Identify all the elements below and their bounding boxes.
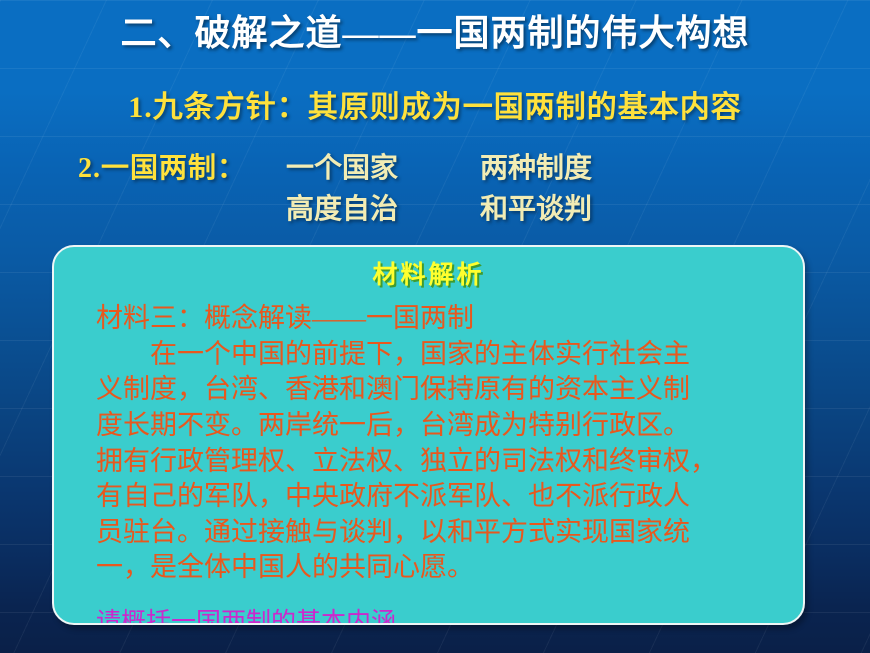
material-body-line-2: 义制度，台湾、香港和澳门保持原有的资本主义制: [96, 372, 803, 408]
material-body-line-5: 有自己的军队，中央政府不派军队、也不派行政人: [96, 479, 803, 515]
bullet-item-one-country-two-systems: 2.一国两制： 一个国家 两种制度 2.一国两制： 高度自治 和平谈判: [78, 148, 718, 231]
bullet-two-cell-2-left: 高度自治: [286, 189, 480, 230]
material-source-line: 材料三：概念解读——一国两制: [96, 301, 803, 337]
material-body-line-3: 度长期不变。两岸统一后，台湾成为特别行政区。: [96, 408, 803, 444]
material-body-line-7: 一，是全体中国人的共同心愿。: [96, 550, 803, 586]
bullet-two-cell-1-right: 两种制度: [480, 148, 592, 189]
material-card-question: 请概括一国两制的基本内涵。: [96, 602, 803, 625]
bullet-two-cell-1-left: 一个国家: [286, 148, 480, 189]
presentation-slide: 二、破解之道——一国两制的伟大构想 1.九条方针：其原则成为一国两制的基本内容 …: [0, 0, 870, 653]
material-body-line-1: 在一个中国的前提下，国家的主体实行社会主: [96, 337, 803, 373]
bullet-two-row-2: 2.一国两制： 高度自治 和平谈判: [78, 189, 718, 230]
bullet-two-cell-2-right: 和平谈判: [480, 189, 592, 230]
bullet-item-nine-principles: 1.九条方针：其原则成为一国两制的基本内容: [0, 82, 870, 126]
slide-title: 二、破解之道——一国两制的伟大构想: [0, 14, 870, 54]
material-card-heading: 材料解析: [54, 255, 803, 291]
material-analysis-card: 材料解析 材料三：概念解读——一国两制 在一个中国的前提下，国家的主体实行社会主…: [52, 245, 805, 625]
material-body-line-6: 员驻台。通过接触与谈判，以和平方式实现国家统: [96, 515, 803, 551]
bullet-two-row-1: 2.一国两制： 一个国家 两种制度: [78, 148, 718, 189]
material-card-body: 材料三：概念解读——一国两制 在一个中国的前提下，国家的主体实行社会主 义制度，…: [96, 301, 803, 586]
material-body-line-4: 拥有行政管理权、立法权、独立的司法权和终审权，: [96, 444, 803, 480]
bullet-two-label: 2.一国两制：: [78, 148, 286, 189]
